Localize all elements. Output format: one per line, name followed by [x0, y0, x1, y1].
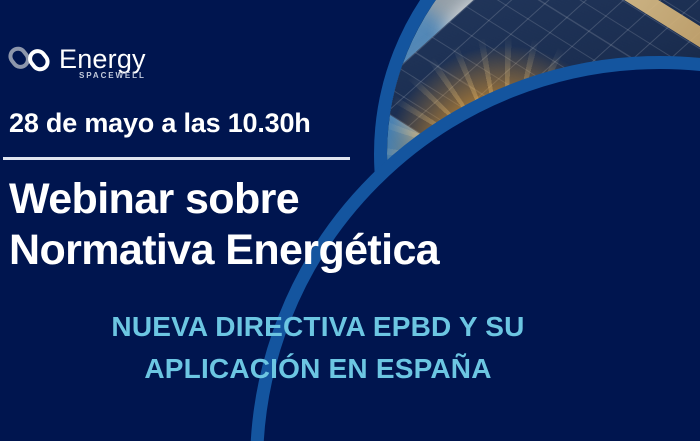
headline-line-2: Normativa Energética [9, 225, 439, 276]
banner-content: Energy SPACEWELL 28 de mayo a las 10.30h… [0, 0, 700, 441]
headline-line-1: Webinar sobre [9, 174, 439, 225]
subtitle-line-2: APLICACIÓN EN ESPAÑA [0, 348, 636, 390]
brand-name: Energy [59, 44, 146, 74]
brand-logo[interactable]: Energy SPACEWELL [8, 38, 146, 80]
spacewell-s-logo-icon [8, 38, 50, 80]
divider-rule [3, 157, 350, 160]
page-title: Webinar sobre Normativa Energética [9, 174, 439, 275]
event-subtitle: NUEVA DIRECTIVA EPBD Y SU APLICACIÓN EN … [0, 306, 636, 390]
brand-subname: SPACEWELL [79, 71, 146, 80]
brand-logo-text: Energy SPACEWELL [59, 46, 146, 73]
webinar-banner: Energy SPACEWELL 28 de mayo a las 10.30h… [0, 0, 700, 441]
subtitle-line-1: NUEVA DIRECTIVA EPBD Y SU [0, 306, 636, 348]
event-date: 28 de mayo a las 10.30h [9, 108, 311, 139]
